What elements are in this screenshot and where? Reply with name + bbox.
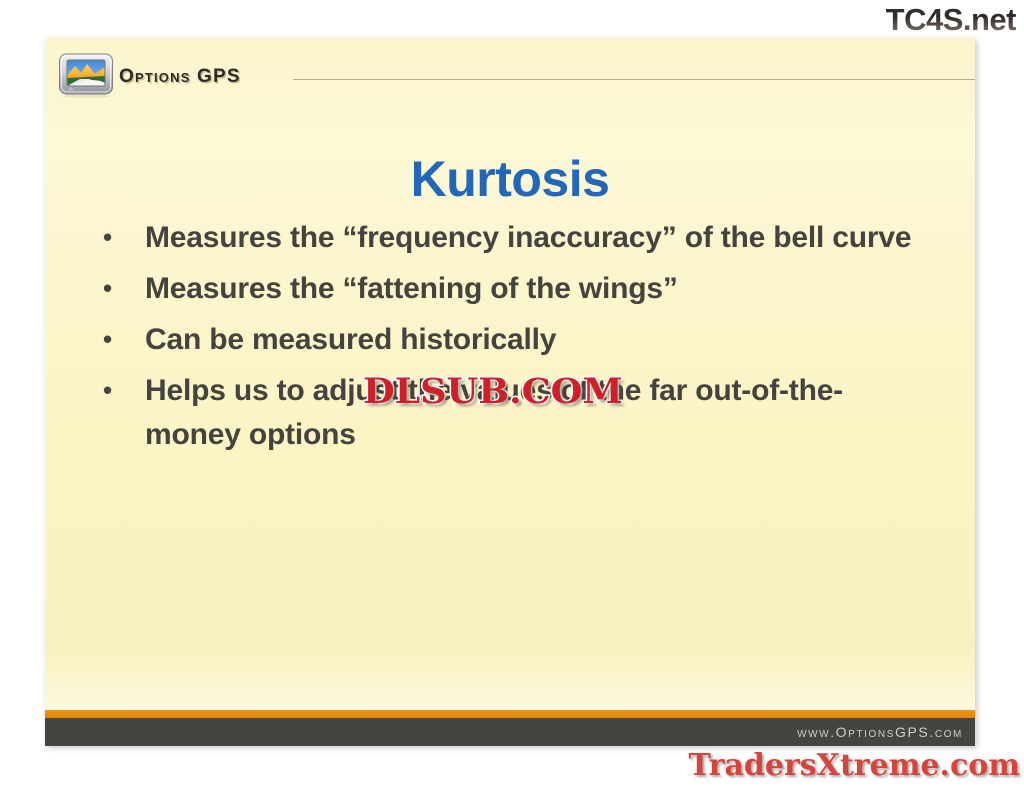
brand-wordmark: Options GPS xyxy=(119,66,241,88)
page-title: Kurtosis xyxy=(45,150,975,208)
tc4s-site-watermark: TC4S.net xyxy=(886,2,1016,38)
list-item: Measures the “fattening of the wings” xyxy=(97,267,937,311)
slide-footer-bar: www.OptionsGPS.com xyxy=(45,718,975,746)
tradersxtreme-watermark: TradersXtreme.com xyxy=(689,748,1020,783)
header-divider xyxy=(293,79,975,80)
list-item: Measures the “frequency inaccuracy” of t… xyxy=(97,216,937,260)
footer-website-url: www.OptionsGPS.com xyxy=(797,724,963,740)
bullet-list: Measures the “frequency inaccuracy” of t… xyxy=(97,216,937,464)
gps-device-icon xyxy=(58,52,114,98)
dlsub-overlay-watermark: DLSUB.COM xyxy=(363,371,623,412)
slide-header: Options GPS xyxy=(45,38,975,96)
list-item: Can be measured historically xyxy=(97,318,937,362)
footer-accent-stripe xyxy=(45,710,975,718)
